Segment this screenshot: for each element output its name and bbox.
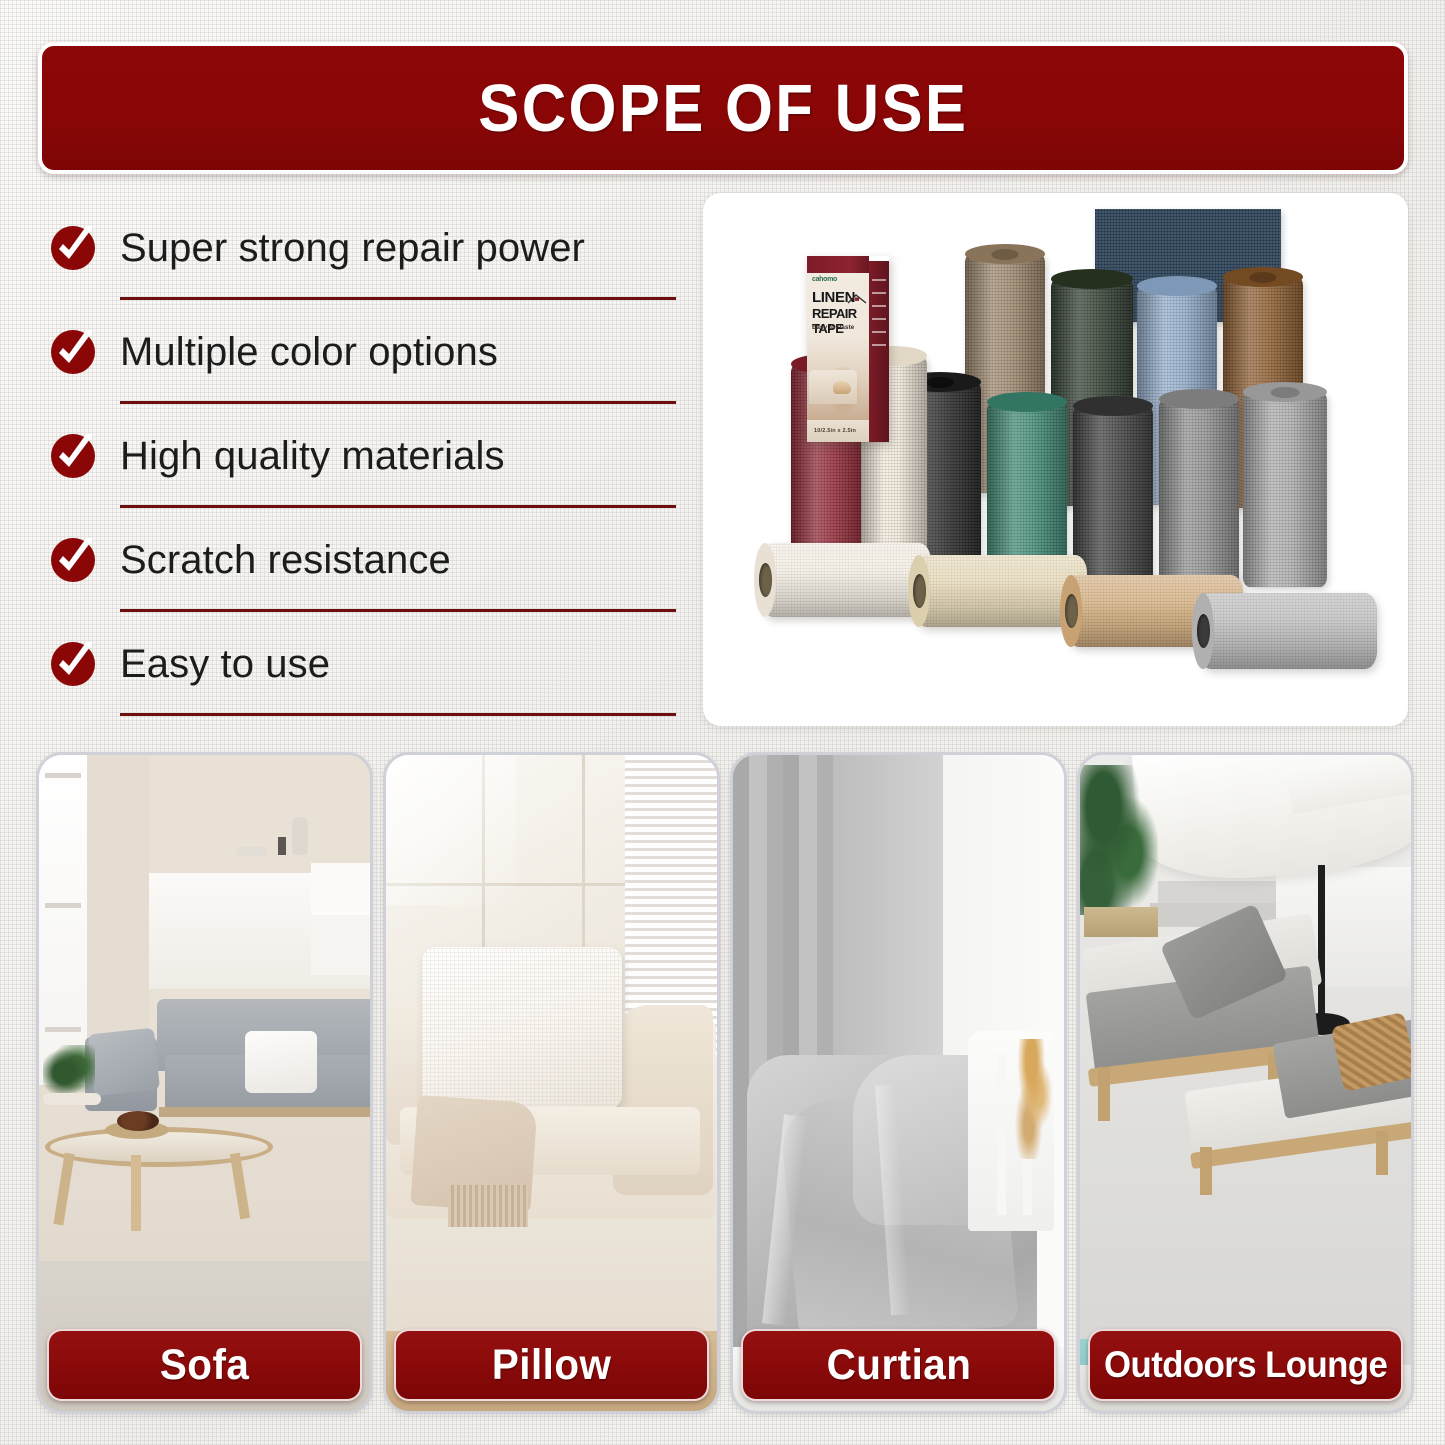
feature-item: High quality materials: [44, 404, 684, 508]
box-front-panel: cahomo LINEN REPAIR TAPE Easy to Paste Q…: [807, 256, 869, 442]
page-title: SCOPE OF USE: [478, 70, 968, 147]
product-box: cahomo LINEN REPAIR TAPE Easy to Paste Q…: [807, 256, 889, 442]
feature-label: High quality materials: [120, 434, 505, 479]
box-spec-strip: 10/2.5in x 2.5in: [807, 422, 869, 442]
panel-label-sofa: Sofa: [47, 1329, 362, 1401]
use-case-panels: Sofa: [36, 752, 1414, 1414]
panel-label-outdoors-lounge: Outdoors Lounge: [1088, 1329, 1403, 1401]
box-side-panel: [869, 261, 889, 442]
check-circle-icon: [50, 433, 96, 479]
box-lifestyle-photo: [807, 338, 869, 420]
panel-label-curtain: Curtian: [741, 1329, 1056, 1401]
feature-item: Super strong repair power: [44, 196, 684, 300]
product-photo: cahomo LINEN REPAIR TAPE Easy to Paste Q…: [703, 193, 1408, 726]
curtain-scene: [733, 755, 1064, 1411]
tape-roll-silver-horizontal: [1199, 593, 1377, 669]
check-circle-icon: [50, 225, 96, 271]
feature-label: Super strong repair power: [120, 226, 585, 271]
check-circle-icon: [50, 641, 96, 687]
box-spec-text: 10/2.5in x 2.5in: [814, 428, 856, 434]
feature-item: Easy to use: [44, 612, 684, 716]
product-image-card: cahomo LINEN REPAIR TAPE Easy to Paste Q…: [703, 193, 1408, 726]
feature-list: Super strong repair power Multiple color…: [44, 196, 684, 741]
panel-outdoors-lounge[interactable]: Outdoors Lounge: [1077, 752, 1414, 1414]
panel-sofa[interactable]: Sofa: [36, 752, 373, 1414]
roof-icon: [847, 292, 867, 304]
panel-curtain[interactable]: Curtian: [730, 752, 1067, 1414]
box-title-line2: REPAIR TAPE: [812, 306, 869, 336]
feature-item: Scratch resistance: [44, 508, 684, 612]
feature-divider: [120, 713, 676, 716]
outdoors-lounge-scene: [1080, 755, 1411, 1411]
feature-label: Multiple color options: [120, 330, 498, 375]
tape-roll-charcoal: [1073, 405, 1153, 587]
brand-logo: cahomo: [812, 276, 837, 283]
infographic-page: SCOPE OF USE Super strong repair power M…: [0, 0, 1445, 1445]
feature-item: Multiple color options: [44, 300, 684, 404]
pillow-scene: [386, 755, 717, 1411]
tape-roll-light-grey: [1243, 391, 1327, 587]
check-circle-icon: [50, 537, 96, 583]
panel-label-pillow: Pillow: [394, 1329, 709, 1401]
feature-label: Easy to use: [120, 642, 330, 687]
feature-label: Scratch resistance: [120, 538, 451, 583]
tape-roll-white-horizontal: [761, 543, 931, 617]
tape-roll-grey: [1159, 398, 1239, 588]
sofa-scene: [39, 755, 370, 1411]
panel-pillow[interactable]: Pillow: [383, 752, 720, 1414]
header-banner: SCOPE OF USE: [38, 42, 1408, 174]
check-circle-icon: [50, 329, 96, 375]
box-tagline-1: Easy to Paste: [812, 324, 854, 331]
